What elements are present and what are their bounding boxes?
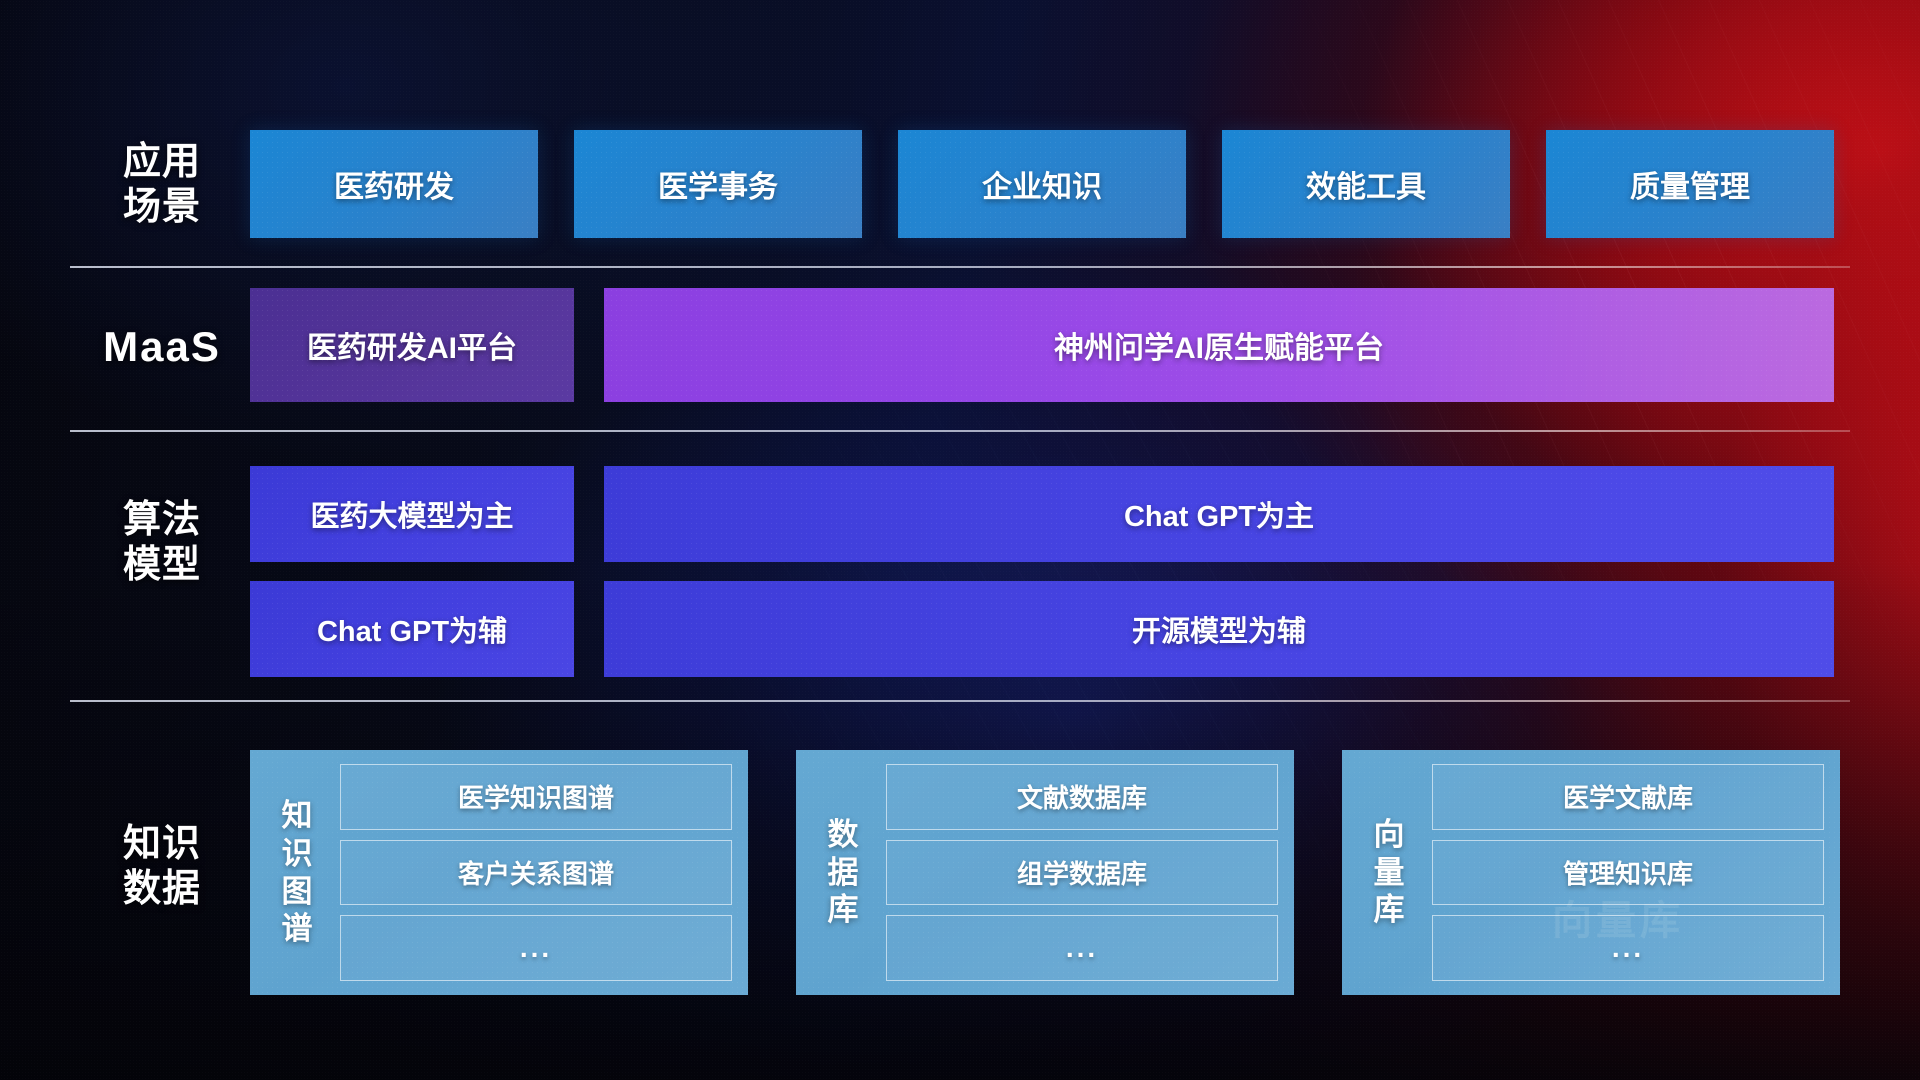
app-card-label: 效能工具 [1306,162,1426,206]
panel-title-char: 谱 [282,910,313,948]
app-card-label: 企业知识 [982,162,1102,206]
knowledge-panel-database[interactable]: 数 据 库 文献数据库 组学数据库 ... [796,750,1294,995]
panel-title-char: 量 [1374,854,1405,892]
panel-title-char: 知 [282,797,313,835]
knowledge-panel-vector-database[interactable]: 向量库 向 量 库 医学文献库 管理知识库 ... [1342,750,1840,995]
panel-item-list: 医学知识图谱 客户关系图谱 ... [340,764,732,981]
panel-item-list: 医学文献库 管理知识库 ... [1432,764,1824,981]
row-label-text: MaaS [78,322,246,372]
maas-card-shenzhou-wenxue-platform[interactable]: 神州问学AI原生赋能平台 [604,288,1834,402]
algo-card-label: Chat GPT为辅 [317,608,507,650]
panel-item-label: 管理知识库 [1563,854,1693,891]
algo-card-label: Chat GPT为主 [1124,493,1314,535]
maas-card-label: 医药研发AI平台 [307,323,517,367]
panel-item-medical-knowledge-graph[interactable]: 医学知识图谱 [340,764,732,830]
row-label-line-1: 算法 [78,498,246,543]
panel-item-label: ... [1066,932,1098,964]
panel-title-char: 数 [828,816,859,854]
panel-item-more[interactable]: ... [886,915,1278,981]
panel-title-vector-database: 向 量 库 [1360,764,1418,981]
row-label-line-2: 模型 [78,543,246,588]
divider-row-3 [70,700,1850,702]
row-label-knowledge-data: 知识 数据 [78,822,246,912]
algo-card-opensource-secondary[interactable]: 开源模型为辅 [604,581,1834,677]
panel-item-customer-relation-graph[interactable]: 客户关系图谱 [340,840,732,906]
row-label-line-1: 应用 [78,140,246,185]
panel-title-char: 据 [828,854,859,892]
row-label-maas: MaaS [78,322,246,372]
panel-item-label: ... [520,932,552,964]
algo-card-pharma-llm-primary[interactable]: 医药大模型为主 [250,466,574,562]
knowledge-panel-knowledge-graph[interactable]: 知 识 图 谱 医学知识图谱 客户关系图谱 ... [250,750,748,995]
algo-card-chatgpt-secondary[interactable]: Chat GPT为辅 [250,581,574,677]
panel-item-more[interactable]: ... [1432,915,1824,981]
row-label-application-scenarios: 应用 场景 [78,140,246,230]
panel-title-database: 数 据 库 [814,764,872,981]
divider-row-2 [70,430,1850,432]
app-card-label: 质量管理 [1630,162,1750,206]
panel-title-knowledge-graph: 知 识 图 谱 [268,764,326,981]
app-card-medical-affairs[interactable]: 医学事务 [574,130,862,238]
panel-item-medical-literature-library[interactable]: 医学文献库 [1432,764,1824,830]
row-label-line-2: 场景 [78,185,246,230]
panel-item-label: 医学文献库 [1563,778,1693,815]
algo-card-chatgpt-primary[interactable]: Chat GPT为主 [604,466,1834,562]
row-label-line-1: 知识 [78,822,246,867]
app-card-efficiency-tools[interactable]: 效能工具 [1222,130,1510,238]
panel-item-label: 医学知识图谱 [458,778,614,815]
panel-item-label: 客户关系图谱 [458,854,614,891]
panel-title-char: 识 [282,835,313,873]
algo-card-label: 医药大模型为主 [310,493,513,535]
slide-canvas: 应用 场景 医药研发 医学事务 企业知识 效能工具 质量管理 MaaS 医药研发… [0,0,1920,1080]
panel-title-char: 向 [1374,816,1405,854]
architecture-diagram: 应用 场景 医药研发 医学事务 企业知识 效能工具 质量管理 MaaS 医药研发… [0,0,1920,1080]
panel-item-omics-database[interactable]: 组学数据库 [886,840,1278,906]
panel-item-management-knowledge-library[interactable]: 管理知识库 [1432,840,1824,906]
panel-title-char: 库 [828,891,859,929]
app-card-label: 医学事务 [658,162,778,206]
app-card-quality-management[interactable]: 质量管理 [1546,130,1834,238]
panel-item-list: 文献数据库 组学数据库 ... [886,764,1278,981]
panel-item-literature-database[interactable]: 文献数据库 [886,764,1278,830]
panel-item-label: ... [1612,932,1644,964]
app-card-drug-rd[interactable]: 医药研发 [250,130,538,238]
row-label-line-2: 数据 [78,867,246,912]
app-card-label: 医药研发 [334,162,454,206]
panel-item-more[interactable]: ... [340,915,732,981]
panel-title-char: 库 [1374,891,1405,929]
algo-card-label: 开源模型为辅 [1132,608,1306,650]
maas-card-drug-rd-ai-platform[interactable]: 医药研发AI平台 [250,288,574,402]
app-card-enterprise-knowledge[interactable]: 企业知识 [898,130,1186,238]
panel-title-char: 图 [282,873,313,911]
divider-row-1 [70,266,1850,268]
panel-item-label: 文献数据库 [1017,778,1147,815]
panel-item-label: 组学数据库 [1017,854,1147,891]
maas-card-label: 神州问学AI原生赋能平台 [1054,323,1384,367]
row-label-algorithm-models: 算法 模型 [78,498,246,588]
